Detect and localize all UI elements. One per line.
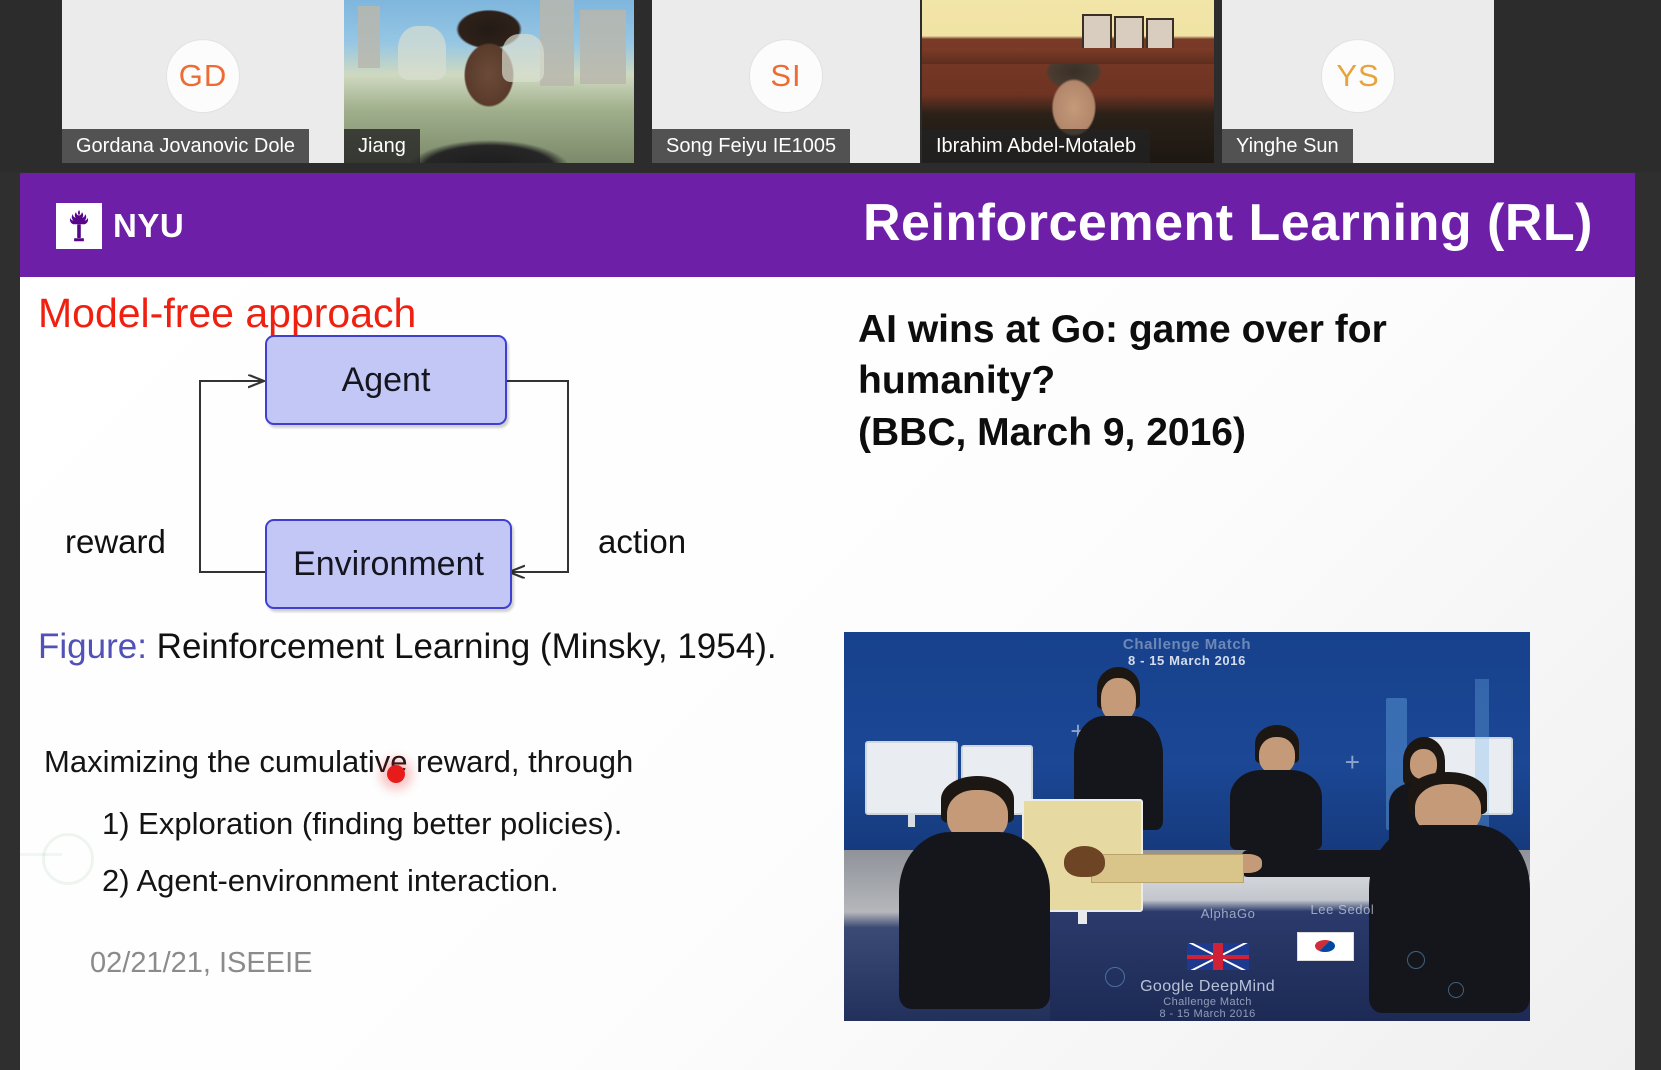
diagram-label-reward: reward	[65, 523, 166, 561]
figure-caption-label: Figure:	[38, 627, 147, 666]
participant-tile[interactable]: SI Song Feiyu IE1005	[652, 0, 920, 163]
photo-banner-dates: 8 - 15 March 2016	[1128, 653, 1246, 668]
photo-label-alphago: AlphaGo	[1201, 906, 1256, 921]
avatar: SI	[749, 39, 823, 113]
participant-name: Ibrahim Abdel-Motaleb	[922, 129, 1150, 163]
nyu-logo: NYU	[56, 203, 184, 249]
google-deepmind-logo: Google DeepMind Challenge Match 8 - 15 M…	[1050, 978, 1366, 1020]
uk-flag-icon	[1187, 943, 1249, 970]
korea-flag-icon	[1297, 932, 1354, 961]
participant-name: Song Feiyu IE1005	[652, 129, 850, 163]
news-source-text: (BBC, March 9, 2016)	[858, 407, 1558, 458]
slide-body: Model-free approach Agent Environment re…	[20, 277, 1635, 1070]
sponsor-sub2: 8 - 15 March 2016	[1050, 1008, 1366, 1020]
photo-banner-title: Challenge Match	[1050, 636, 1324, 653]
figure-caption-text: Reinforcement Learning (Minsky, 1954).	[147, 627, 777, 666]
rl-loop-diagram: Agent Environment reward action	[20, 329, 640, 629]
avatar: GD	[166, 39, 240, 113]
photo-person-lee-sedol	[1365, 772, 1530, 1013]
nyu-wordmark: NYU	[113, 207, 184, 245]
participant-tile[interactable]: Ibrahim Abdel-Motaleb	[922, 0, 1214, 163]
news-headline-text: AI wins at Go: game over for humanity?	[858, 304, 1558, 407]
avatar: YS	[1321, 39, 1395, 113]
figure-caption: Figure: Reinforcement Learning (Minsky, …	[38, 627, 777, 667]
news-headline: AI wins at Go: game over for humanity? (…	[858, 304, 1558, 458]
laser-pointer-dot	[387, 765, 405, 783]
photo-label-leesedol: Lee Sedol	[1310, 902, 1374, 917]
sponsor-name: Google DeepMind	[1140, 978, 1275, 995]
body-paragraph: Maximizing the cumulative reward, throug…	[44, 744, 633, 780]
participant-tile[interactable]: GD Gordana Jovanovic Dole	[62, 0, 344, 163]
list-item: 1) Exploration (finding better policies)…	[102, 806, 622, 842]
photo-person-alphago-operator	[899, 776, 1050, 1009]
participant-tile[interactable]: Jiang	[344, 0, 634, 163]
watermark-ring	[42, 833, 94, 885]
slide-footer: 02/21/21, ISEEIE	[90, 947, 312, 980]
torch-icon	[56, 203, 102, 249]
sponsor-sub: Challenge Match	[1050, 996, 1366, 1008]
diagram-node-agent: Agent	[265, 335, 507, 425]
photo-banner: Challenge Match 8 - 15 March 2016	[1050, 636, 1324, 668]
alphago-match-photo: Challenge Match 8 - 15 March 2016 + + +	[844, 632, 1530, 1021]
diagram-node-environment: Environment	[265, 519, 512, 609]
diagram-label-action: action	[598, 523, 686, 561]
shared-slide[interactable]: NYU Reinforcement Learning (RL) Model-fr…	[20, 173, 1635, 1070]
list-item: 2) Agent-environment interaction.	[102, 863, 559, 899]
page-title: Reinforcement Learning (RL)	[863, 193, 1593, 253]
photo-person	[1228, 725, 1324, 849]
participant-name: Gordana Jovanovic Dole	[62, 129, 309, 163]
watermark-line	[20, 853, 62, 856]
participant-name: Yinghe Sun	[1222, 129, 1353, 163]
participant-tile[interactable]: YS Yinghe Sun	[1222, 0, 1494, 163]
participant-name: Jiang	[344, 129, 420, 163]
slide-header: NYU Reinforcement Learning (RL)	[20, 173, 1635, 277]
zoom-participant-filmstrip: GD Gordana Jovanovic Dole Jiang SI Song …	[0, 0, 1661, 172]
